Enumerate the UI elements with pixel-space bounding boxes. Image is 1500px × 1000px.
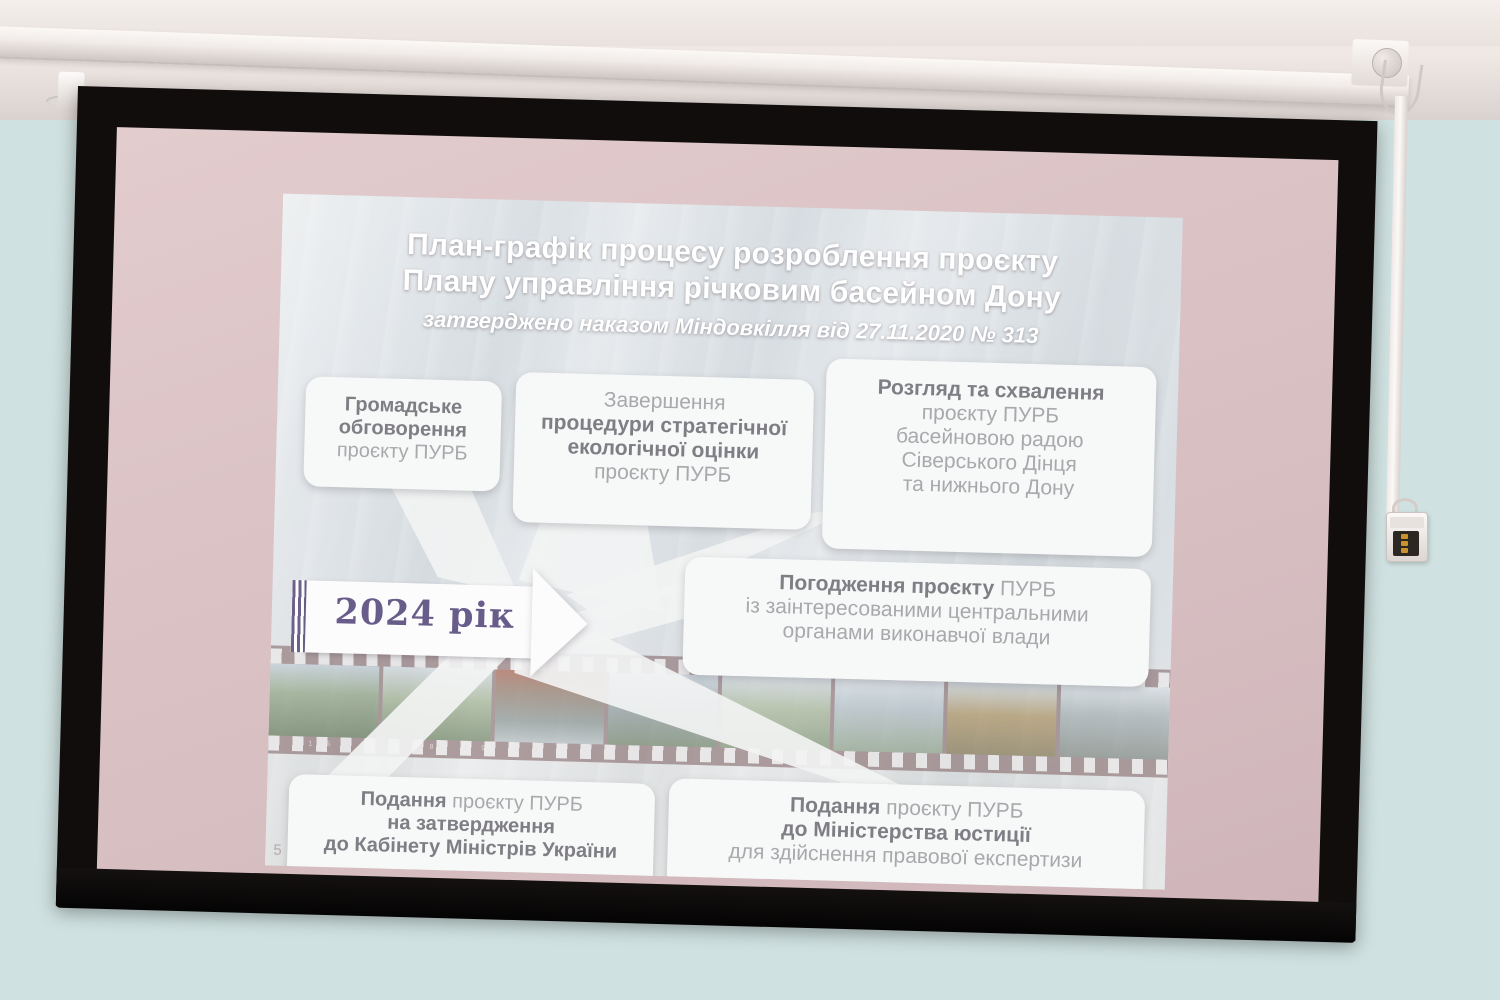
box4-regular-line-1: ПУРБ <box>1000 577 1057 602</box>
filmstrip-photo <box>946 682 1057 757</box>
slide-number: 5 <box>273 842 282 859</box>
box2-regular-line-1: Завершення <box>604 388 726 414</box>
switch-button-stop[interactable] <box>1401 541 1408 546</box>
box6-regular-line-1: проєкту ПУРБ <box>886 796 1024 823</box>
arrow-head <box>530 568 589 677</box>
projected-slide: План-графік процесу розроблення проєкту … <box>265 194 1183 890</box>
box3-bold-line-1: Розгляд та схвалення <box>877 376 1105 405</box>
callout-central-authorities-agreement: Погодження проєкту ПУРБ із заінтересован… <box>682 557 1151 688</box>
callout-public-discussion: Громадське обговорення проєкту ПУРБ <box>303 376 502 491</box>
switch-button-panel[interactable] <box>1393 531 1419 556</box>
box1-bold-line-2: обговорення <box>338 416 467 441</box>
callout-basin-council-approval: Розгляд та схвалення проєкту ПУРБ басейн… <box>822 358 1157 557</box>
box5-regular-line-1: проєкту ПУРБ <box>452 790 583 816</box>
screen-surface: План-графік процесу розроблення проєкту … <box>97 127 1339 902</box>
wall-cable-conduit <box>1386 96 1408 516</box>
arrow-year-label: 2024 рік <box>319 591 530 638</box>
switch-top-plate <box>1390 517 1424 528</box>
box1-bold-line-1: Громадське <box>344 393 462 418</box>
room-scene: План-графік процесу розроблення проєкту … <box>0 0 1500 1000</box>
box5-bold-line-3: до Кабінету Міністрів України <box>324 833 618 863</box>
slide-title-block: План-графік процесу розроблення проєкту … <box>308 224 1157 352</box>
switch-button-up[interactable] <box>1401 534 1408 539</box>
box3-regular-line-1: проєкту ПУРБ <box>922 401 1060 428</box>
box5-bold-line-1: Подання <box>360 788 447 812</box>
callout-sea-completion: Завершення процедури стратегічної еколог… <box>512 372 814 530</box>
callout-submission-cabinet: Подання проєкту ПУРБ на затвердження до … <box>287 774 656 890</box>
box1-regular-line-1: проєкту ПУРБ <box>337 439 468 465</box>
filmstrip-photo <box>1059 685 1170 760</box>
box6-bold-line-1: Подання <box>790 794 881 819</box>
year-arrow: 2024 рік <box>290 562 593 678</box>
switch-button-down[interactable] <box>1401 548 1408 553</box>
filmstrip-photo <box>833 679 944 754</box>
box3-regular-line-3: Сіверського Дінця <box>901 448 1077 476</box>
box2-regular-line-2: проєкту ПУРБ <box>594 460 732 487</box>
screen-control-switch[interactable] <box>1386 512 1428 562</box>
callout-submission-justice-ministry: Подання проєкту ПУРБ до Міністерства юст… <box>666 778 1145 889</box>
box3-regular-line-4: та нижнього Дону <box>903 472 1075 500</box>
projection-screen: План-графік процесу розроблення проєкту … <box>56 86 1378 941</box>
filmstrip-photo <box>269 663 380 738</box>
